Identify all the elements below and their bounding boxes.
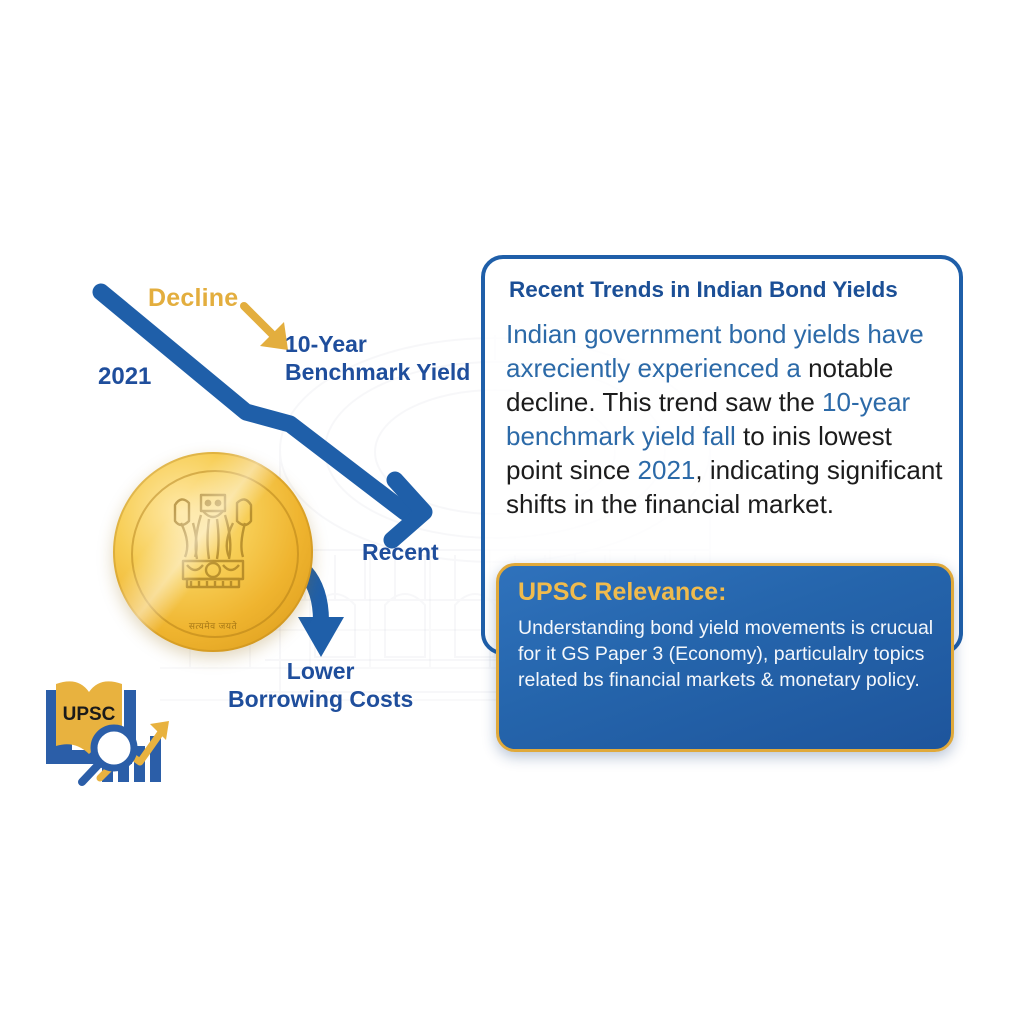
upsc-relevance-text: Understanding bond yield movements is cr…: [518, 615, 938, 693]
label-year-2021: 2021: [98, 362, 151, 391]
label-benchmark-yield: 10-Year Benchmark Yield: [285, 330, 470, 386]
label-decline: Decline: [148, 283, 238, 314]
card-body-segment-4: 2021: [638, 455, 696, 485]
card-body-text: Indian government bond yields have axrec…: [506, 318, 950, 522]
label-lower-borrowing-costs: Lower Borrowing Costs: [228, 657, 413, 713]
label-recent: Recent: [362, 538, 439, 566]
upsc-relevance-heading: UPSC Relevance:: [518, 578, 726, 607]
upsc-logo-text: UPSC: [63, 704, 116, 725]
coin-sheen: [113, 452, 313, 652]
card-title: Recent Trends in Indian Bond Yields: [509, 277, 959, 303]
trend-diagram: Decline 2021 10-Year Benchmark Yield Rec…: [0, 0, 500, 1024]
upsc-logo: UPSC: [38, 666, 183, 791]
gold-coin: सत्यमेव जयते: [113, 452, 313, 652]
infographic-canvas: Decline 2021 10-Year Benchmark Yield Rec…: [0, 0, 1024, 1024]
